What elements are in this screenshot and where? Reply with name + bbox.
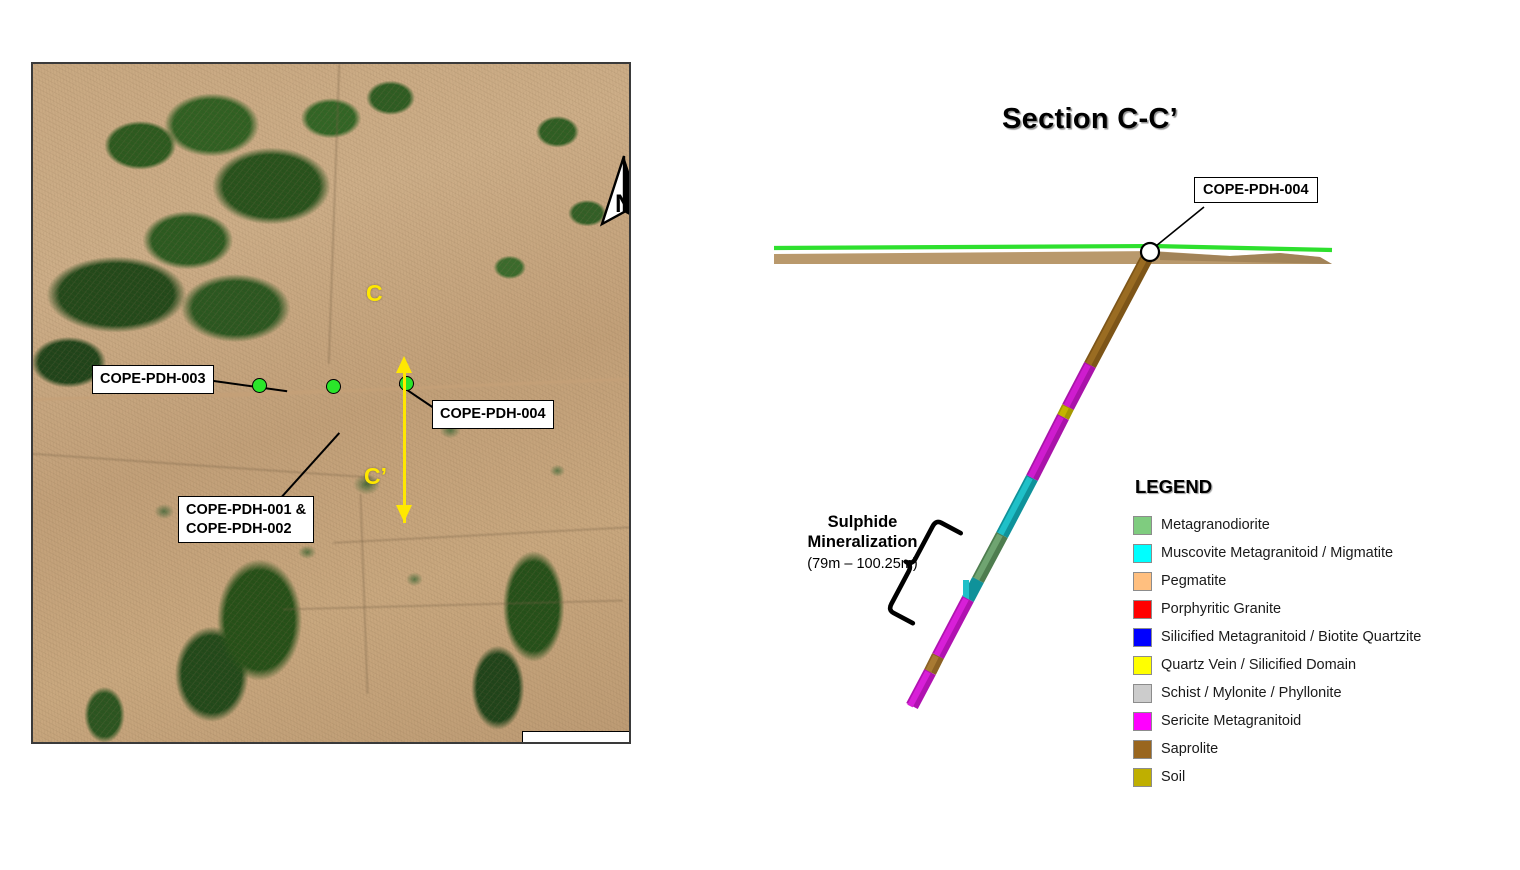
legend-item: Metagranodiorite [1133,511,1473,539]
map-label-pdh003[interactable]: COPE-PDH-003 [92,365,214,394]
section-cap-c: C [366,280,383,307]
legend-rows: MetagranodioriteMuscovite Metagranitoid … [1133,511,1473,791]
legend-swatch [1133,712,1152,731]
legend-label: Saprolite [1161,741,1218,757]
legend-swatch [1133,600,1152,619]
drillhole-trace-pdh004 [910,252,1150,706]
svg-text:N: N [615,190,631,218]
scale-bar-unit: m [618,738,631,744]
legend: LEGEND MetagranodioriteMuscovite Metagra… [1133,476,1473,791]
legend-item: Porphyritic Granite [1133,595,1473,623]
drill-collar-location-map[interactable]: COPE-PDH-003 COPE-PDH-001 & COPE-PDH-002… [31,62,631,744]
legend-label: Quartz Vein / Silicified Domain [1161,657,1356,673]
section-title: Section C-C’ [1002,103,1178,136]
legend-item: Soil [1133,763,1473,791]
legend-item: Muscovite Metagranitoid / Migmatite [1133,539,1473,567]
legend-label: Schist / Mylonite / Phyllonite [1161,685,1342,701]
section-cap-c-prime: C’ [364,463,387,490]
legend-item: Silicified Metagranitoid / Biotite Quart… [1133,623,1473,651]
legend-item: Saprolite [1133,735,1473,763]
segment-sericite-3-hl [936,599,966,656]
drill-collar-pdh004[interactable] [399,376,414,391]
legend-swatch [1133,572,1152,591]
collar-leader-line [1156,207,1204,246]
legend-label: Silicified Metagranitoid / Biotite Quart… [1161,629,1421,645]
legend-swatch [1133,516,1152,535]
legend-swatch [1133,684,1152,703]
legend-item: Pegmatite [1133,567,1473,595]
section-arrow-north [396,356,412,373]
legend-label: Sericite Metagranitoid [1161,713,1301,729]
legend-label: Porphyritic Granite [1161,601,1281,617]
sulphide-mineralization-annotation: Sulphide Mineralization (79m – 100.25m) [795,512,930,572]
sulphide-line-2: Mineralization [795,532,930,552]
sulphide-line-1: Sulphide [795,512,930,532]
drill-collar-pdh003[interactable] [252,378,267,393]
legend-swatch [1133,544,1152,563]
legend-label: Pegmatite [1161,573,1226,589]
legend-title: LEGEND [1135,476,1473,498]
section-line-cc [403,371,406,523]
legend-label: Soil [1161,769,1185,785]
legend-label: Muscovite Metagranitoid / Migmatite [1161,545,1393,561]
section-collar-label[interactable]: COPE-PDH-004 [1194,177,1318,203]
drill-collar-pdh001-002[interactable] [326,379,341,394]
sulphide-depth-range: (79m – 100.25m) [795,556,930,572]
legend-swatch [1133,628,1152,647]
segment-saprolite-upper-hl [1088,252,1148,365]
legend-item: Schist / Mylonite / Phyllonite [1133,679,1473,707]
segment-muscovite-2 [968,580,978,599]
legend-label: Metagranodiorite [1161,517,1270,533]
scale-bar: m 0 50 100 [522,731,631,744]
segment-muscovite-1-hl [1000,478,1030,535]
legend-swatch [1133,740,1152,759]
legend-item: Sericite Metagranitoid [1133,707,1473,735]
map-label-pdh004[interactable]: COPE-PDH-004 [432,400,554,429]
section-arrow-south [396,505,412,522]
north-arrow-icon: N [598,154,631,230]
segment-sericite-2-hl [1030,417,1061,478]
legend-swatch [1133,656,1152,675]
map-label-pdh001-002[interactable]: COPE-PDH-001 & COPE-PDH-002 [178,496,314,543]
surface-line [774,246,1332,250]
legend-swatch [1133,768,1152,787]
legend-item: Quartz Vein / Silicified Domain [1133,651,1473,679]
